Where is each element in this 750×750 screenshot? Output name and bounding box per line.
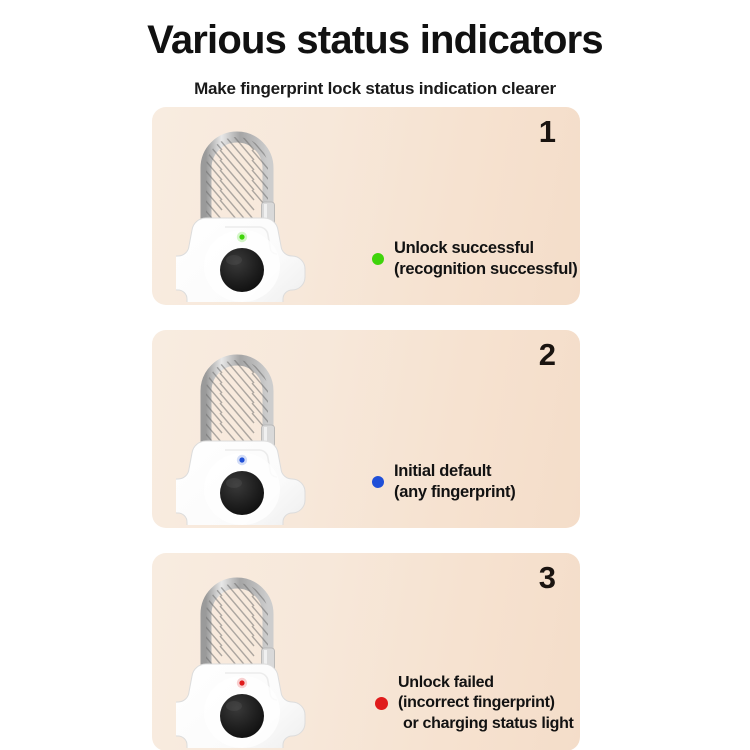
- panel-number-3: 3: [539, 562, 556, 593]
- fingerprint-padlock-icon-2: [176, 333, 308, 525]
- legend-line: Initial default: [394, 461, 515, 482]
- legend-line: (recognition successful): [394, 259, 578, 280]
- status-led-dot-red: [375, 697, 388, 710]
- status-legend-text-2: Initial default (any fingerprint): [394, 461, 515, 503]
- panel-number-1: 1: [539, 116, 556, 147]
- legend-line: Unlock failed: [398, 673, 574, 693]
- legend-line: (incorrect fingerprint): [398, 693, 574, 713]
- status-legend-1: Unlock successful (recognition successfu…: [372, 238, 578, 280]
- status-led-dot-green: [372, 253, 384, 265]
- legend-line: or charging status light: [398, 714, 574, 734]
- fingerprint-padlock-icon-1: [176, 110, 308, 302]
- page-subtitle: Make fingerprint lock status indication …: [0, 60, 750, 99]
- status-legend-2: Initial default (any fingerprint): [372, 461, 515, 503]
- status-panel-2: 2: [152, 330, 580, 528]
- header: Various status indicators Make fingerpri…: [0, 0, 750, 99]
- status-legend-text-3: Unlock failed (incorrect fingerprint) or…: [398, 673, 574, 734]
- panel-number-2: 2: [539, 339, 556, 370]
- page-title: Various status indicators: [0, 0, 750, 60]
- status-legend-3: Unlock failed (incorrect fingerprint) or…: [375, 673, 574, 734]
- status-legend-text-1: Unlock successful (recognition successfu…: [394, 238, 578, 280]
- legend-line: (any fingerprint): [394, 482, 515, 503]
- legend-line: Unlock successful: [394, 238, 578, 259]
- infographic-page: Various status indicators Make fingerpri…: [0, 0, 750, 750]
- fingerprint-padlock-icon-3: [176, 556, 308, 748]
- status-led-dot-blue: [372, 476, 384, 488]
